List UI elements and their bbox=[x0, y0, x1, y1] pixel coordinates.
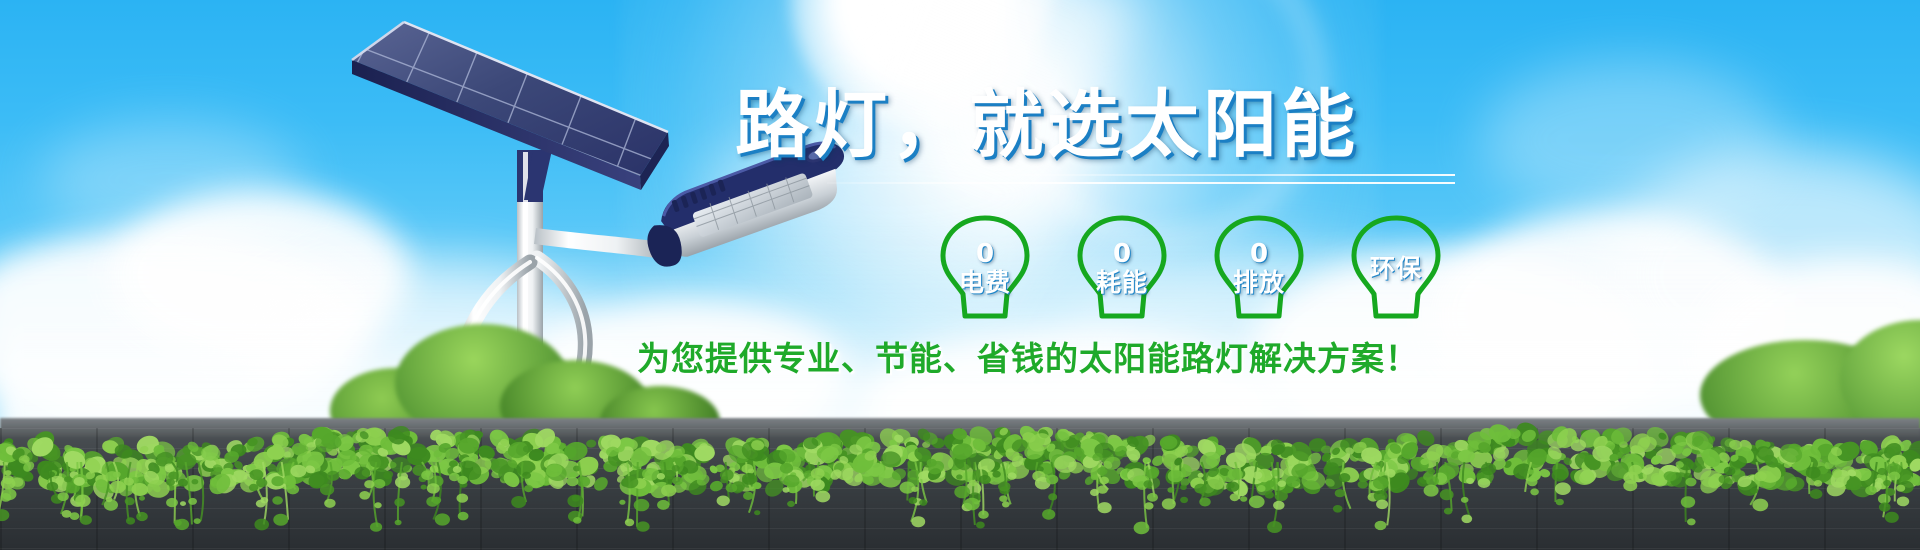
banner-copy: 路灯，就选太阳能 0 电费 0 耗能 bbox=[735, 88, 1475, 380]
ivy-foliage bbox=[0, 392, 1920, 502]
badge-value: 0 bbox=[1096, 241, 1148, 267]
benefit-badge-0: 0 电费 bbox=[933, 212, 1037, 324]
solar-street-light-banner: 路灯，就选太阳能 0 电费 0 耗能 bbox=[0, 0, 1920, 550]
badge-label: 耗能 bbox=[1096, 270, 1148, 295]
benefit-badge-1: 0 耗能 bbox=[1070, 212, 1174, 324]
badge-value: 0 bbox=[1233, 241, 1285, 267]
badge-label: 电费 bbox=[959, 270, 1011, 295]
badge-label: 环保 bbox=[1370, 256, 1422, 281]
badge-value: 0 bbox=[959, 241, 1011, 267]
benefit-badge-list: 0 电费 0 耗能 0 排放 bbox=[933, 212, 1475, 324]
benefit-badge-3: 环保 bbox=[1344, 212, 1448, 324]
divider-group bbox=[735, 174, 1475, 198]
badge-label: 排放 bbox=[1233, 270, 1285, 295]
banner-tagline: 为您提供专业、节能、省钱的太阳能路灯解决方案！ bbox=[637, 332, 1475, 380]
divider-bottom bbox=[827, 182, 1455, 184]
page-title: 路灯，就选太阳能 bbox=[735, 88, 1475, 162]
divider-top bbox=[1000, 174, 1455, 176]
benefit-badge-2: 0 排放 bbox=[1207, 212, 1311, 324]
